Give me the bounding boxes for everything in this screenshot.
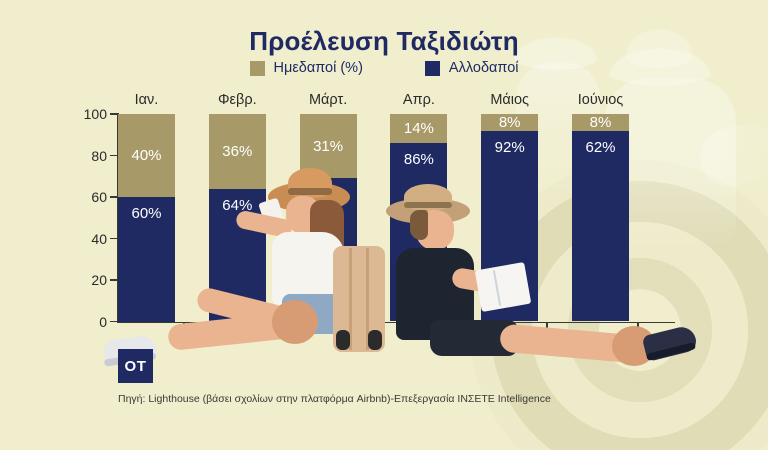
x-axis-tick-mark <box>274 322 276 330</box>
x-axis-category-label: Φεβρ. <box>218 92 257 108</box>
bar-value-domestic: 14% <box>404 121 434 136</box>
bar-segment-domestic[interactable]: 36% <box>209 114 266 189</box>
bar-group[interactable]: Απρ.14%86% <box>390 114 447 322</box>
ot-logo-text: OT <box>124 358 146 375</box>
bar-segment-domestic[interactable]: 40% <box>118 114 175 197</box>
x-axis-tick-mark <box>365 322 367 330</box>
y-axis-tick-label: 40 <box>73 232 107 246</box>
bar-value-domestic: 31% <box>313 139 343 154</box>
bar-group[interactable]: Μάιος8%92% <box>481 114 538 322</box>
bar-value-foreign: 62% <box>585 140 615 155</box>
bar-segment-domestic[interactable]: 31% <box>300 114 357 178</box>
bar-value-foreign: 64% <box>222 198 252 213</box>
x-axis-category-label: Μάρτ. <box>309 92 347 108</box>
bar-segment-domestic[interactable]: 8% <box>481 114 538 131</box>
bar-value-domestic: 40% <box>131 148 161 163</box>
bar-value-foreign: 92% <box>495 140 525 155</box>
x-axis-tick-mark <box>183 322 185 330</box>
x-axis-tick-mark <box>637 322 639 330</box>
plot-area: 020406080100 Ιαν.40%60%Φεβρ.36%64%Μάρτ.3… <box>0 0 768 450</box>
x-axis-tick-mark <box>546 322 548 330</box>
infographic-canvas: Προέλευση Ταξιδιώτη Ημεδαποί (%) Αλλοδαπ… <box>0 0 768 450</box>
bar-value-domestic: 36% <box>222 144 252 159</box>
source-note: Πηγή: Lighthouse (βάσει σχολίων στην πλα… <box>118 393 551 405</box>
bar-segment-foreign[interactable]: 64% <box>209 189 266 322</box>
x-axis-category-label: Μάιος <box>490 92 529 108</box>
x-axis-category-label: Απρ. <box>403 92 435 108</box>
bar-group[interactable]: Ιούνιος8%62% <box>572 114 629 322</box>
bar-value-domestic: 8% <box>590 115 612 130</box>
y-axis-tick-label: 60 <box>73 190 107 204</box>
bar-segment-foreign[interactable]: 86% <box>390 143 447 321</box>
ot-logo-badge[interactable]: OT <box>118 349 153 383</box>
bar-group[interactable]: Ιαν.40%60% <box>118 114 175 322</box>
x-axis-tick-mark <box>455 322 457 330</box>
x-axis-category-label: Ιαν. <box>135 92 159 108</box>
bar-segment-domestic[interactable]: 8% <box>572 114 629 131</box>
bar-segment-domestic[interactable]: 14% <box>390 114 447 143</box>
x-axis-line <box>117 322 675 324</box>
bar-segment-foreign[interactable]: 69% <box>300 178 357 321</box>
bar-value-foreign: 86% <box>404 152 434 167</box>
y-axis-tick-label: 80 <box>73 149 107 163</box>
y-axis-tick-label: 100 <box>73 107 107 121</box>
bar-segment-foreign[interactable]: 62% <box>572 131 629 322</box>
y-axis-tick-label: 20 <box>73 273 107 287</box>
x-axis-category-label: Ιούνιος <box>578 92 624 108</box>
bar-segment-foreign[interactable]: 92% <box>481 131 538 322</box>
bar-value-foreign: 69% <box>313 187 343 202</box>
bar-group[interactable]: Μάρτ.31%69% <box>300 114 357 322</box>
bar-value-foreign: 60% <box>131 206 161 221</box>
y-axis-tick-label: 0 <box>73 315 107 329</box>
bar-value-domestic: 8% <box>499 115 521 130</box>
bar-segment-foreign[interactable]: 60% <box>118 197 175 322</box>
bar-group[interactable]: Φεβρ.36%64% <box>209 114 266 322</box>
